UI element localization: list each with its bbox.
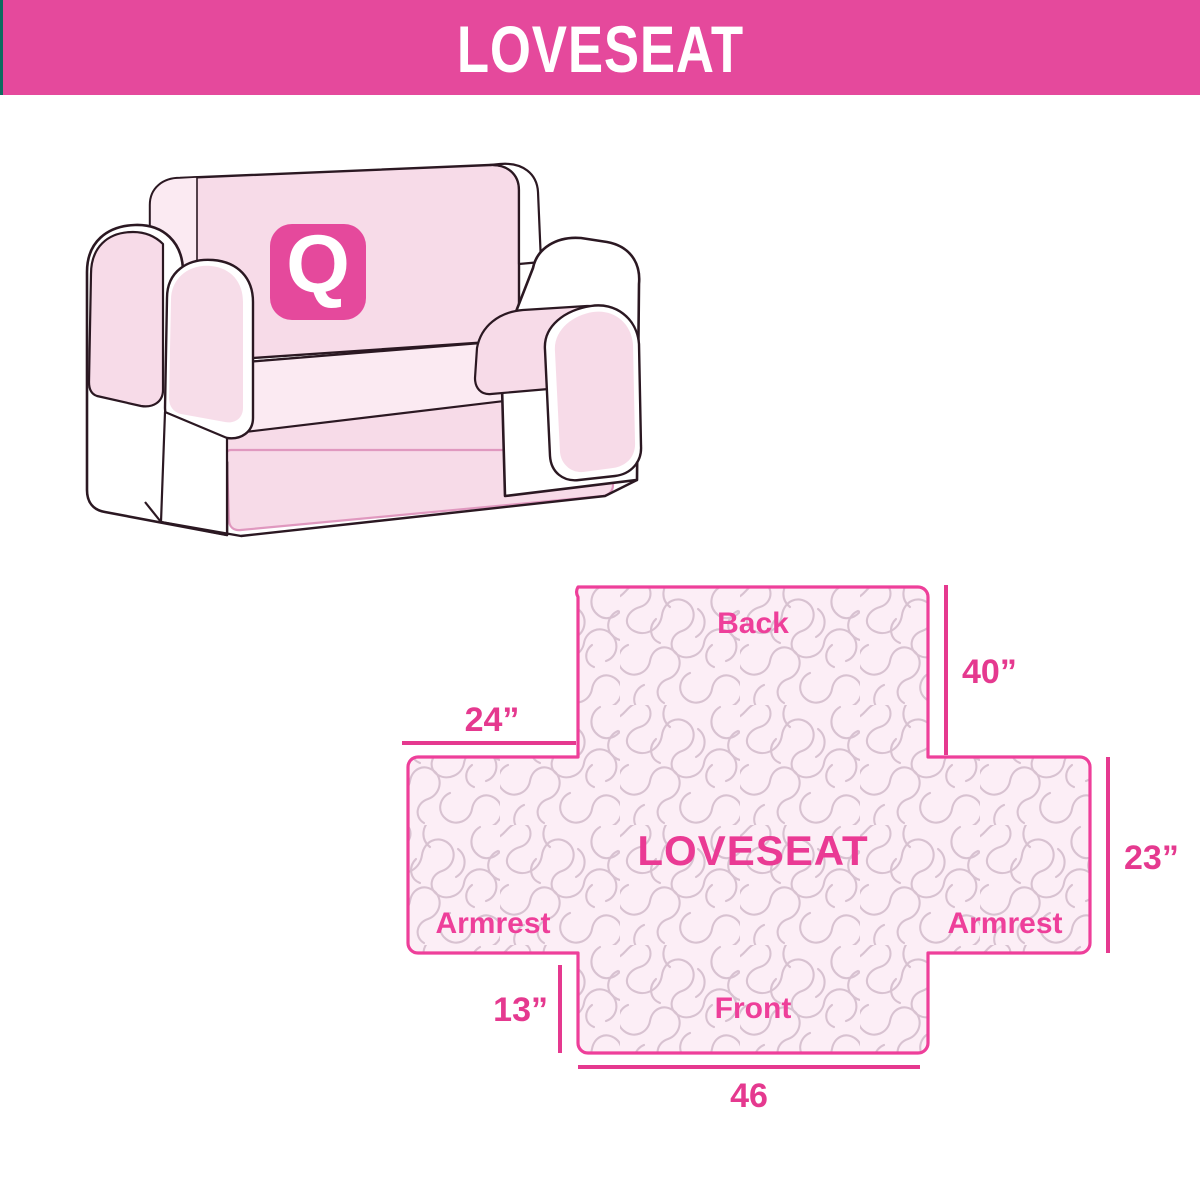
- header-banner: LOVESEAT: [0, 0, 1200, 95]
- dimension-value-23: 23”: [1124, 839, 1179, 877]
- page-title: LOVESEAT: [456, 16, 743, 82]
- dimension-armrest-height: 23”: [1108, 757, 1179, 953]
- dimension-value-40: 40”: [962, 653, 1017, 691]
- dimension-value-46: 46: [730, 1077, 768, 1115]
- brand-logo: Q: [270, 219, 366, 320]
- header-edge-strip: [0, 0, 3, 95]
- panel-label-back: Back: [717, 607, 789, 640]
- panel-label-armrest-right: Armrest: [947, 907, 1062, 940]
- dimension-back-height: 40”: [946, 585, 1017, 755]
- flat-pattern-diagram: Back Armrest Armrest Front LOVESEAT 40” …: [380, 465, 1180, 1165]
- dimension-armrest-left-width: 24”: [402, 701, 576, 743]
- diagram-stage: Q: [0, 95, 1200, 1200]
- panel-label-armrest-left: Armrest: [435, 907, 550, 940]
- dimension-value-13: 13”: [493, 991, 548, 1029]
- dimension-value-24: 24”: [465, 701, 520, 739]
- dimension-front-width: 46: [578, 1067, 920, 1115]
- center-label-loveseat: LOVESEAT: [637, 827, 868, 874]
- panel-label-front: Front: [715, 992, 792, 1025]
- svg-text:Q: Q: [286, 219, 350, 310]
- dimension-front-height: 13”: [493, 965, 560, 1053]
